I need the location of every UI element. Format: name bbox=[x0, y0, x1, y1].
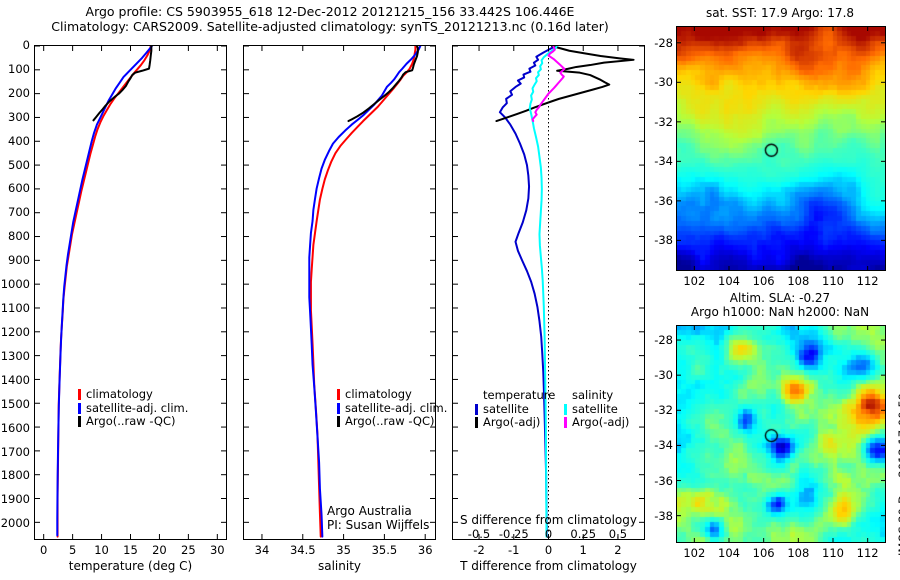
profile-plot-area bbox=[244, 46, 435, 539]
legend-item-satellite-adj-clim-s: satellite-adj. clim. bbox=[337, 402, 447, 416]
series-argo-raw-qc- bbox=[348, 46, 417, 121]
axis-tick-label: 0 bbox=[0, 38, 30, 52]
profile-plot-area bbox=[35, 46, 226, 539]
title-line-2: Climatology: CARS2009. Satellite-adjuste… bbox=[0, 19, 660, 34]
axis-tick-label: -32 bbox=[651, 403, 673, 417]
series-temperature-argo-adj- bbox=[496, 46, 633, 121]
difference-panel-legend-temperature: temperature satellite Argo(-adj) bbox=[475, 389, 555, 430]
salinity-panel[interactable] bbox=[243, 45, 436, 540]
legend-item-salinity-argo-adj: Argo(-adj) bbox=[564, 416, 629, 430]
axis-tick-label: -36 bbox=[651, 474, 673, 488]
axis-tick-label: -34 bbox=[651, 154, 673, 168]
sst-map-canvas[interactable] bbox=[677, 27, 885, 270]
axis-tick-label: 1300 bbox=[0, 349, 30, 363]
axis-tick-label: -28 bbox=[651, 36, 673, 50]
axis-tick-label: 1200 bbox=[0, 325, 30, 339]
legend-swatch-salinity-argo-adj bbox=[564, 417, 567, 428]
legend-label-satellite-adj-clim: satellite-adj. clim. bbox=[86, 402, 188, 416]
legend-swatch-argo-raw-qc-s bbox=[337, 416, 340, 427]
salinity-panel-legend: climatology satellite-adj. clim. Argo(..… bbox=[337, 388, 447, 429]
series-climatology bbox=[311, 46, 415, 537]
sla-map-title-line-1: Altim. SLA: -0.27 bbox=[670, 291, 890, 305]
series-temperature-satellite bbox=[500, 46, 556, 537]
axis-tick-label: 1600 bbox=[0, 421, 30, 435]
legend-label-climatology: climatology bbox=[86, 388, 153, 402]
axis-tick-label: 900 bbox=[0, 253, 30, 267]
axis-tick-label: 200 bbox=[0, 86, 30, 100]
salinity-difference-axis-title: S difference from climatology bbox=[452, 513, 645, 527]
legend-swatch-climatology bbox=[78, 389, 81, 400]
axis-tick-label: 30 bbox=[199, 543, 235, 557]
sst-map[interactable] bbox=[676, 26, 886, 271]
temperature-panel-legend: climatology satellite-adj. clim. Argo(..… bbox=[78, 388, 188, 429]
axis-tick-label: 1900 bbox=[0, 492, 30, 506]
axis-tick-label: -36 bbox=[651, 194, 673, 208]
axis-tick-label: -38 bbox=[651, 233, 673, 247]
axis-tick-label: 35.5 bbox=[362, 543, 406, 557]
legend-label-temperature-argo-adj: Argo(-adj) bbox=[483, 416, 540, 430]
series-climatology bbox=[58, 46, 151, 537]
legend-swatch-temperature-satellite bbox=[475, 404, 478, 415]
legend-item-climatology: climatology bbox=[78, 388, 188, 402]
legend-label-salinity-argo-adj: Argo(-adj) bbox=[572, 416, 629, 430]
imos-timestamp: IMOS 20-Dec-2012 17:00:59 bbox=[896, 393, 900, 556]
legend-swatch-salinity-satellite bbox=[564, 404, 567, 415]
sla-map-title: Altim. SLA: -0.27 Argo h1000: NaN h2000:… bbox=[670, 291, 890, 319]
sla-map-canvas[interactable] bbox=[677, 326, 885, 542]
temperature-difference-axis-title: T difference from climatology bbox=[452, 559, 645, 573]
temperature-panel[interactable] bbox=[34, 45, 227, 540]
legend-item-temperature-satellite: satellite bbox=[475, 403, 555, 417]
axis-tick-label: 1400 bbox=[0, 373, 30, 387]
axis-tick-label: 700 bbox=[0, 205, 30, 219]
axis-tick-label: 1000 bbox=[0, 277, 30, 291]
legend-item-salinity-satellite: satellite bbox=[564, 403, 629, 417]
legend-label-argo-raw-qc: Argo(..raw -QC) bbox=[86, 415, 176, 429]
figure-title: Argo profile: CS 5903955_618 12-Dec-2012… bbox=[0, 4, 660, 34]
legend-swatch-satellite-adj-clim-s bbox=[337, 403, 340, 414]
axis-tick-label: 112 bbox=[848, 546, 888, 560]
temperature-axis-title: temperature (deg C) bbox=[34, 559, 227, 573]
axis-tick-label: 500 bbox=[0, 158, 30, 172]
axis-tick-label: 34.5 bbox=[281, 543, 325, 557]
legend-item-argo-raw-qc: Argo(..raw -QC) bbox=[78, 415, 188, 429]
argo-profile-figure: Argo profile: CS 5903955_618 12-Dec-2012… bbox=[0, 0, 900, 580]
axis-tick-label: 100 bbox=[0, 62, 30, 76]
axis-tick-label: -32 bbox=[651, 115, 673, 129]
axis-tick-label: 1 bbox=[565, 543, 601, 557]
axis-tick-label: -38 bbox=[651, 509, 673, 523]
sla-map-title-line-2: Argo h1000: NaN h2000: NaN bbox=[670, 305, 890, 319]
legend-label-satellite-adj-clim-s: satellite-adj. clim. bbox=[345, 402, 447, 416]
legend-label-temperature-satellite: satellite bbox=[483, 403, 529, 417]
legend-header-salinity: salinity bbox=[564, 389, 629, 403]
legend-header-temperature: temperature bbox=[475, 389, 555, 403]
series-satellite-adj-clim- bbox=[57, 46, 152, 535]
axis-tick-label: 35 bbox=[322, 543, 366, 557]
difference-panel-legend-salinity: salinity satellite Argo(-adj) bbox=[564, 389, 629, 430]
legend-label-climatology-s: climatology bbox=[345, 388, 412, 402]
axis-tick-label: 2 bbox=[600, 543, 636, 557]
axis-tick-label: 400 bbox=[0, 134, 30, 148]
axis-tick-label: -30 bbox=[651, 368, 673, 382]
axis-tick-label: 0.5 bbox=[596, 527, 640, 541]
attribution-line-2: PI: Susan Wijffels bbox=[327, 518, 429, 532]
axis-tick-label: -30 bbox=[651, 75, 673, 89]
axis-tick-label: 2000 bbox=[0, 516, 30, 530]
axis-tick-label: 600 bbox=[0, 181, 30, 195]
axis-tick-label: 800 bbox=[0, 229, 30, 243]
legend-item-satellite-adj-clim: satellite-adj. clim. bbox=[78, 402, 188, 416]
axis-tick-label: 34 bbox=[240, 543, 284, 557]
axis-tick-label: 1100 bbox=[0, 301, 30, 315]
axis-tick-label: 112 bbox=[848, 274, 888, 288]
legend-swatch-argo-raw-qc bbox=[78, 416, 81, 427]
title-line-1: Argo profile: CS 5903955_618 12-Dec-2012… bbox=[0, 4, 660, 19]
legend-swatch-satellite-adj-clim bbox=[78, 403, 81, 414]
axis-tick-label: -34 bbox=[651, 438, 673, 452]
axis-tick-label: 0 bbox=[531, 543, 567, 557]
axis-tick-label: -1 bbox=[496, 543, 532, 557]
sla-map[interactable] bbox=[676, 325, 886, 543]
axis-tick-label: 36 bbox=[403, 543, 447, 557]
difference-panel[interactable] bbox=[452, 45, 645, 540]
axis-tick-label: 1500 bbox=[0, 397, 30, 411]
attribution-line-1: Argo Australia bbox=[327, 504, 429, 518]
axis-tick-label: 1800 bbox=[0, 468, 30, 482]
legend-swatch-temperature-argo-adj bbox=[475, 417, 478, 428]
legend-label-argo-raw-qc-s: Argo(..raw -QC) bbox=[345, 415, 435, 429]
axis-tick-label: 300 bbox=[0, 110, 30, 124]
axis-tick-label: -28 bbox=[651, 333, 673, 347]
attribution-note: Argo Australia PI: Susan Wijffels bbox=[327, 504, 429, 532]
legend-item-climatology-s: climatology bbox=[337, 388, 447, 402]
axis-tick-label: -2 bbox=[461, 543, 497, 557]
legend-swatch-climatology-s bbox=[337, 389, 340, 400]
legend-label-salinity-satellite: satellite bbox=[572, 403, 618, 417]
sst-map-title: sat. SST: 17.9 Argo: 17.8 bbox=[670, 6, 890, 20]
salinity-axis-title: salinity bbox=[243, 559, 436, 573]
legend-item-argo-raw-qc-s: Argo(..raw -QC) bbox=[337, 415, 447, 429]
profile-plot-area bbox=[453, 46, 644, 539]
legend-item-temperature-argo-adj: Argo(-adj) bbox=[475, 416, 555, 430]
axis-tick-label: 1700 bbox=[0, 445, 30, 459]
